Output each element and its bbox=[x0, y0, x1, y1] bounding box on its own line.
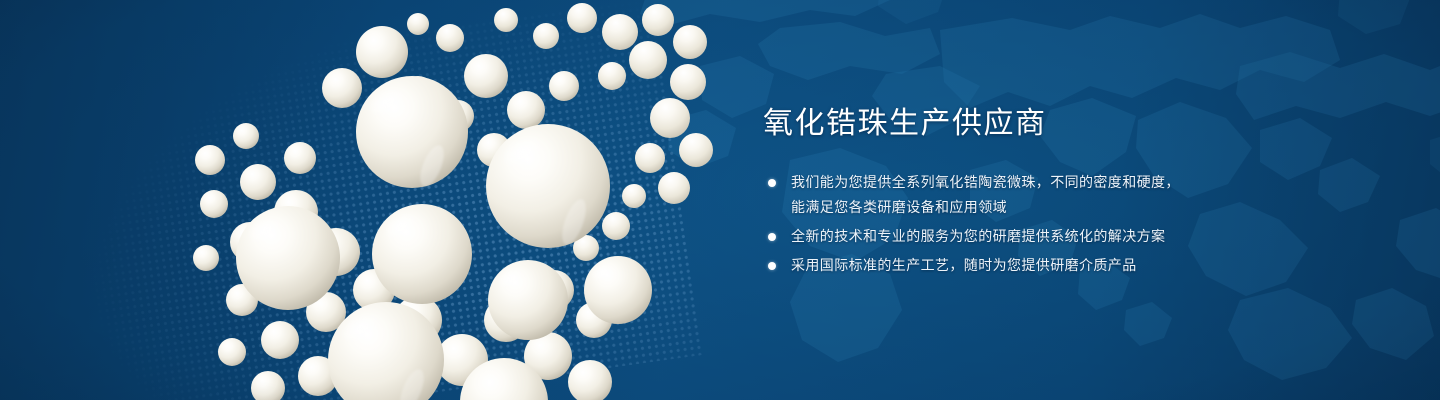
bullet-line: 采用国际标准的生产工艺，随时为您提供研磨介质产品 bbox=[791, 253, 1303, 278]
banner-copy-block: 氧化锆珠生产供应商 我们能为您提供全系列氧化锆陶瓷微珠，不同的密度和硬度， 能满… bbox=[763, 104, 1303, 278]
bullet-dot-icon bbox=[768, 262, 776, 270]
bullet-line: 我们能为您提供全系列氧化锆陶瓷微珠，不同的密度和硬度， bbox=[791, 170, 1303, 195]
bullet-line: 能满足您各类研磨设备和应用领域 bbox=[791, 195, 1303, 220]
bullet-dot-icon bbox=[768, 233, 776, 241]
list-item: 采用国际标准的生产工艺，随时为您提供研磨介质产品 bbox=[763, 253, 1303, 278]
banner-feature-list: 我们能为您提供全系列氧化锆陶瓷微珠，不同的密度和硬度， 能满足您各类研磨设备和应… bbox=[763, 170, 1303, 278]
list-item: 我们能为您提供全系列氧化锆陶瓷微珠，不同的密度和硬度， 能满足您各类研磨设备和应… bbox=[763, 170, 1303, 220]
bullet-line: 全新的技术和专业的服务为您的研磨提供系统化的解决方案 bbox=[791, 224, 1303, 249]
hero-banner: 氧化锆珠生产供应商 我们能为您提供全系列氧化锆陶瓷微珠，不同的密度和硬度， 能满… bbox=[0, 0, 1440, 400]
banner-headline: 氧化锆珠生产供应商 bbox=[763, 104, 1303, 144]
list-item: 全新的技术和专业的服务为您的研磨提供系统化的解决方案 bbox=[763, 224, 1303, 249]
bullet-dot-icon bbox=[768, 179, 776, 187]
